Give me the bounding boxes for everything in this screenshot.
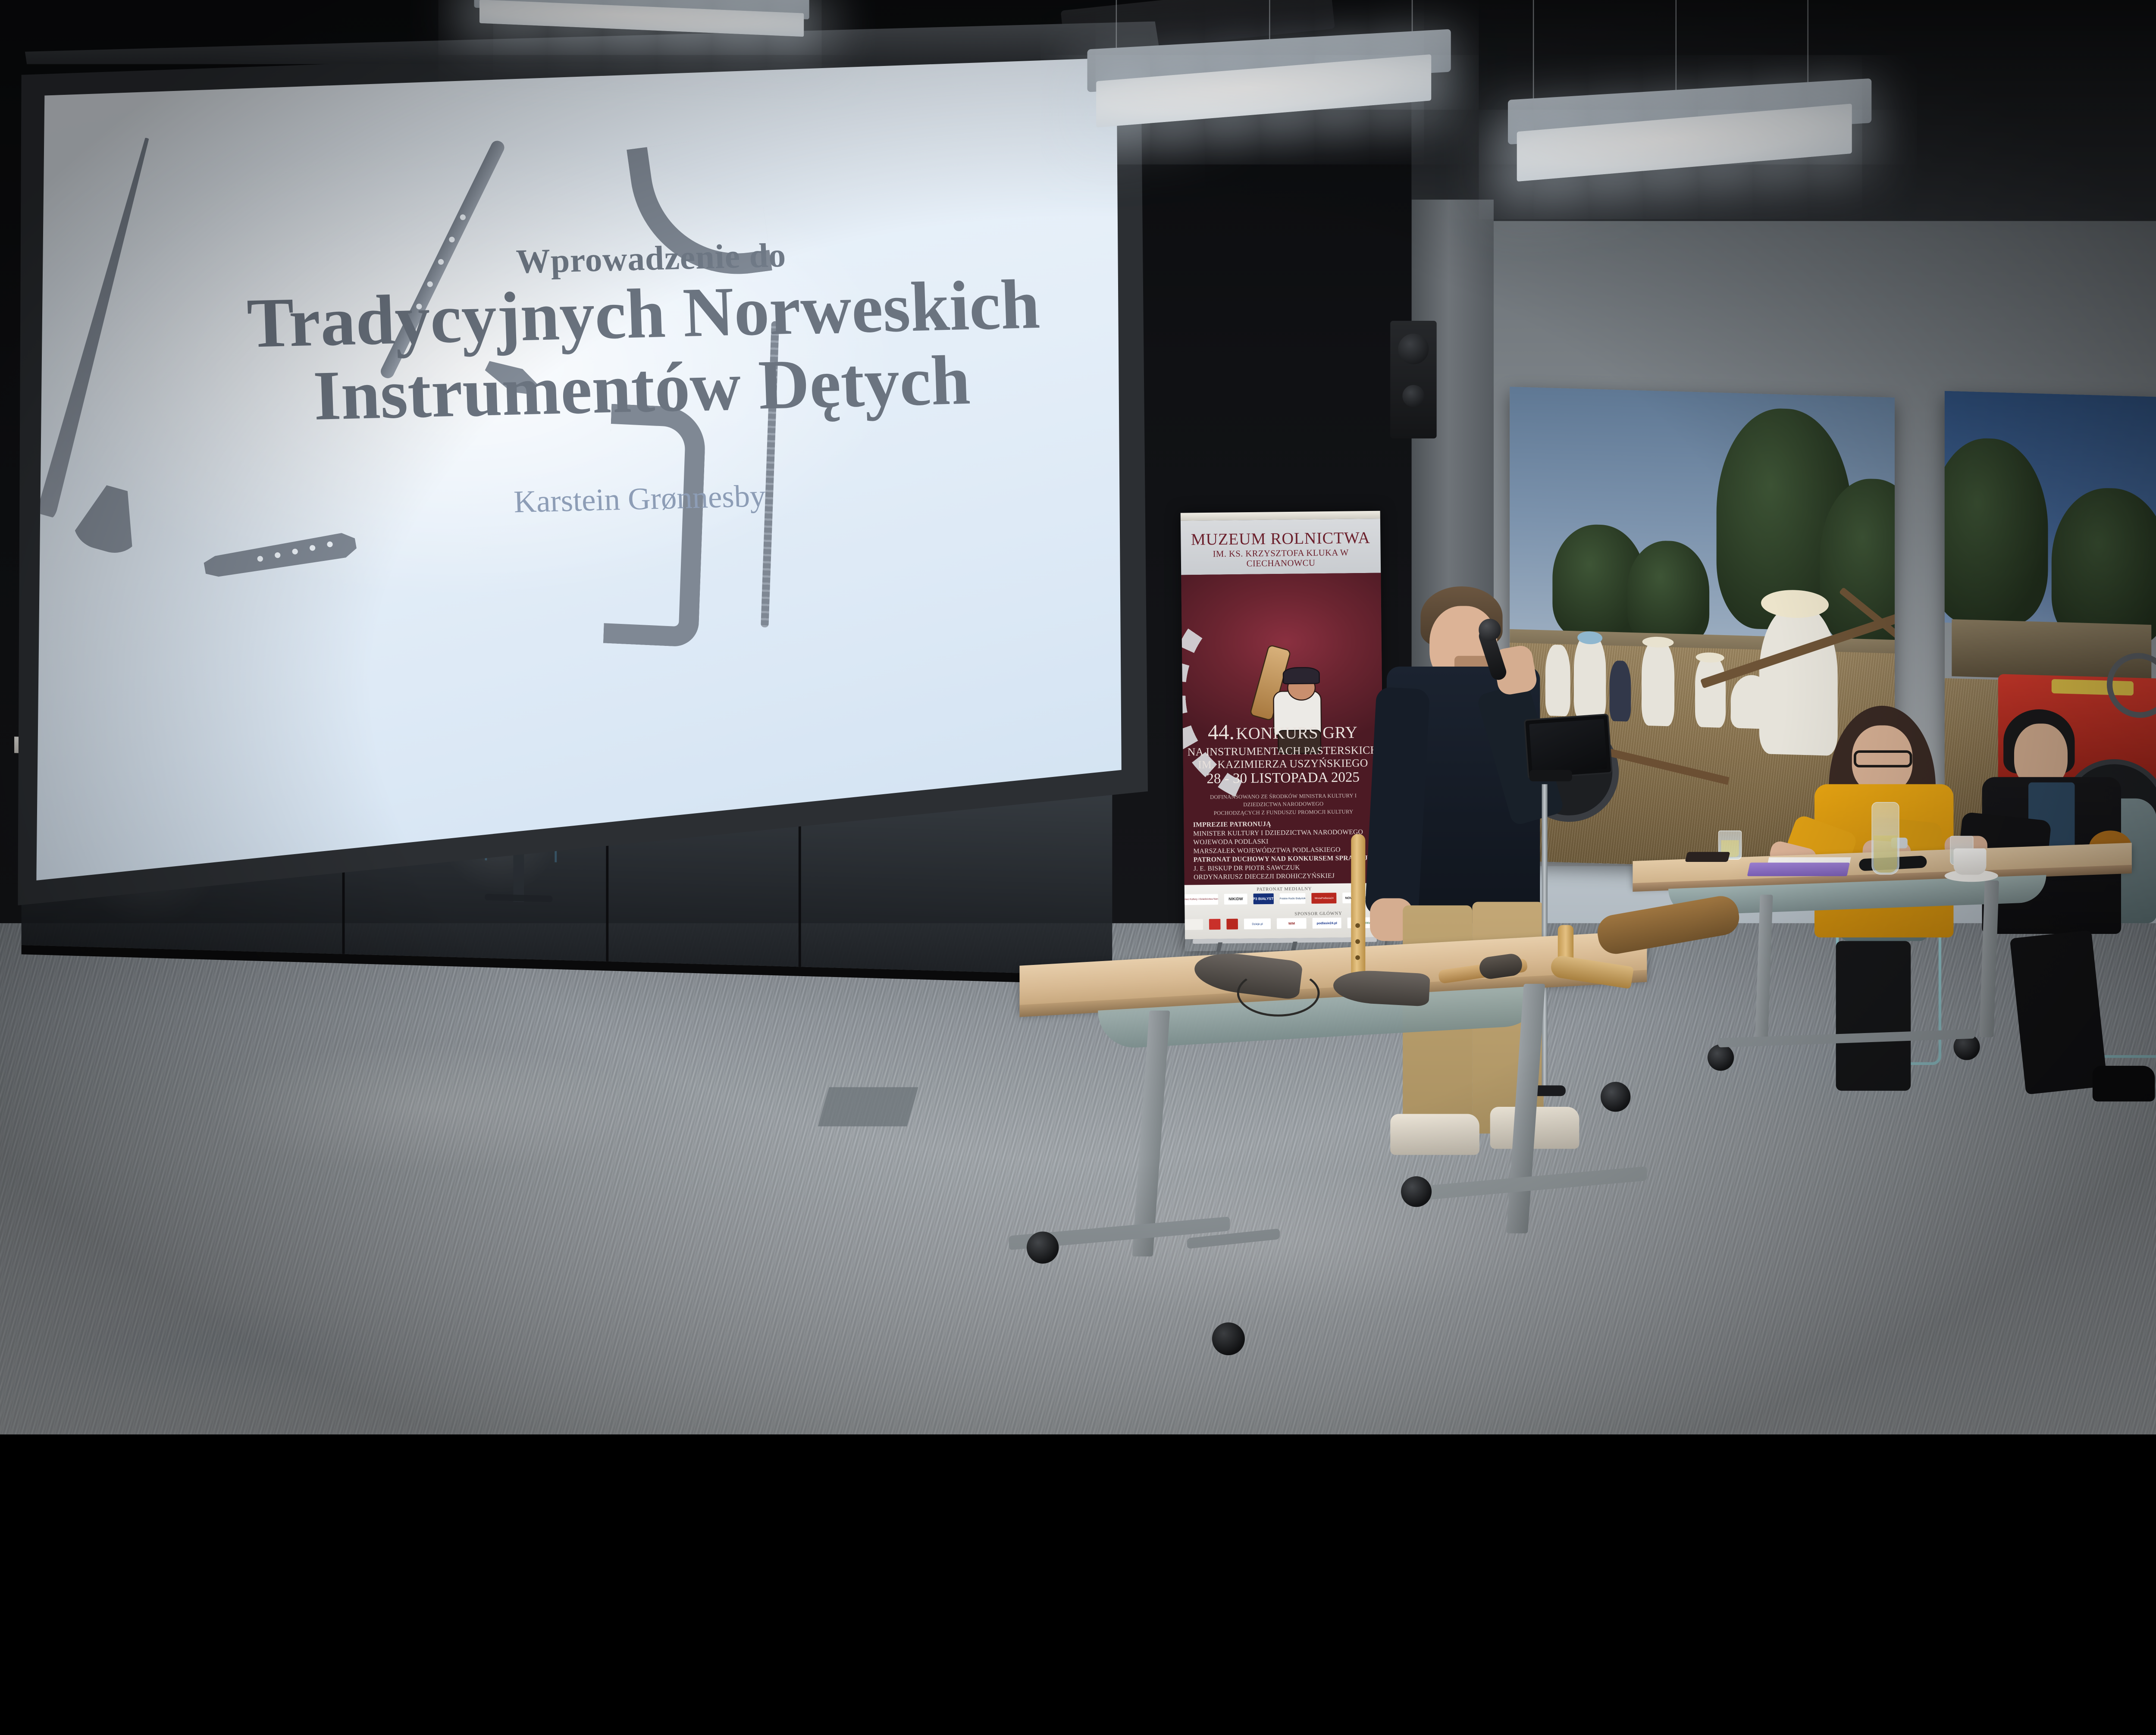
demo-table-caster-4 xyxy=(1601,1082,1630,1112)
contest-subtitle-1: NA INSTRUMENTACH PASTERSKICH xyxy=(1183,744,1382,759)
demo-table-caster-1 xyxy=(1027,1231,1059,1263)
contest-date: 28 - 30 LISTOPADA 2025 xyxy=(1183,768,1383,787)
slide-content: Wprowadzenie do Tradycyjnych Norweskich … xyxy=(46,63,1142,844)
microphone-head xyxy=(1479,619,1501,641)
slide-title-line-2: Instrumentów Dętych xyxy=(248,342,1035,433)
main-sponsor-caption: SPONSOR GŁÓWNY xyxy=(1274,910,1363,917)
lur-horn-bell-illustration xyxy=(68,479,150,559)
stand-clamp xyxy=(1529,770,1572,781)
spiritual-patronage-block: PATRONAT DUCHOWY NAD KONKURSEM SPRAWUJE … xyxy=(1194,854,1374,882)
water-carafe[interactable] xyxy=(1871,802,1899,875)
curved-horn-lower-illustration xyxy=(603,404,706,648)
logo-herb-2 xyxy=(1209,919,1221,930)
museum-subtitle: IM. KS. KRZYSZTOFA KLUKA W CIECHANOWCU xyxy=(1181,547,1381,570)
logo-herb-1 xyxy=(1185,919,1203,930)
logo-wrota-podlasia: WrotaPodlasia24 xyxy=(1312,893,1337,903)
demo-table-caster-3 xyxy=(1401,1176,1432,1207)
purple-folder[interactable] xyxy=(1747,863,1850,876)
logo-tvp3: TVP3 BIAŁYSTOK xyxy=(1253,893,1274,904)
wall-speaker xyxy=(1390,321,1436,438)
phone-case[interactable] xyxy=(1685,852,1730,862)
logo-polskie-radio: Polskie Radio Białystok xyxy=(1280,893,1306,904)
contest-title-block: 44. KONKURS GRY NA INSTRUMENTACH PASTERS… xyxy=(1183,718,1383,771)
floor-vent xyxy=(818,1087,918,1126)
logo-dzieje: Dzieje.pl xyxy=(1244,918,1271,929)
horn-carrying-cord xyxy=(1237,970,1320,1017)
logo-nikidw: NIKiDW xyxy=(1224,894,1247,905)
museum-name: MUZEUM ROLNICTWA xyxy=(1181,519,1381,549)
logo-wim: WiM xyxy=(1277,918,1307,929)
slide-title: Tradycyjnych Norweskich Instrumentów Dęt… xyxy=(246,268,1035,433)
slide-author: Karstein Grønnesby xyxy=(513,478,766,520)
rollup-header: MUZEUM ROLNICTWA IM. KS. KRZYSZTOFA KLUK… xyxy=(1181,519,1381,575)
spiritual-item: ORDYNARIUSZ DIECEZJI DROHICZYŃSKIEJ xyxy=(1194,871,1374,882)
lur-horn-illustration xyxy=(36,135,157,518)
tall-wooden-pipe[interactable] xyxy=(1351,834,1365,987)
logo-herb-3 xyxy=(1226,919,1238,930)
presenter-shoe-left xyxy=(1390,1114,1479,1155)
piper-hat xyxy=(1283,667,1320,685)
contest-edition-number: 44. xyxy=(1208,720,1235,744)
funding-line-1: DOFINANSOWANO ZE ŚRODKÓW MINISTRA KULTUR… xyxy=(1193,792,1374,810)
logo-podlasie24: podlasie24.pl xyxy=(1313,918,1341,929)
contest-title: KONKURS GRY xyxy=(1236,723,1357,743)
jury-table-caster-1 xyxy=(1708,1044,1734,1071)
funding-note: DOFINANSOWANO ZE ŚRODKÓW MINISTRA KULTUR… xyxy=(1193,792,1374,817)
demo-table-caster-2 xyxy=(1212,1322,1245,1355)
tablet-on-stand[interactable] xyxy=(1524,714,1613,779)
funding-line-2: POCHODZĄCYCH Z FUNDUSZU PROMOCJI KULTURY xyxy=(1193,808,1374,818)
scene-root: Wprowadzenie do Tradycyjnych Norweskich … xyxy=(0,0,2156,1434)
patronage-block: IMPREZIE PATRONUJĄ MINISTER KULTURY I DZ… xyxy=(1193,819,1374,856)
coffee-cup[interactable] xyxy=(1953,849,1986,875)
projection-screen: Wprowadzenie do Tradycyjnych Norweskich … xyxy=(3,36,1155,905)
whistle-illustration xyxy=(203,531,358,581)
logo-ministry: Ministerstwo Kultury i Dziedzictwa Narod… xyxy=(1185,894,1218,905)
